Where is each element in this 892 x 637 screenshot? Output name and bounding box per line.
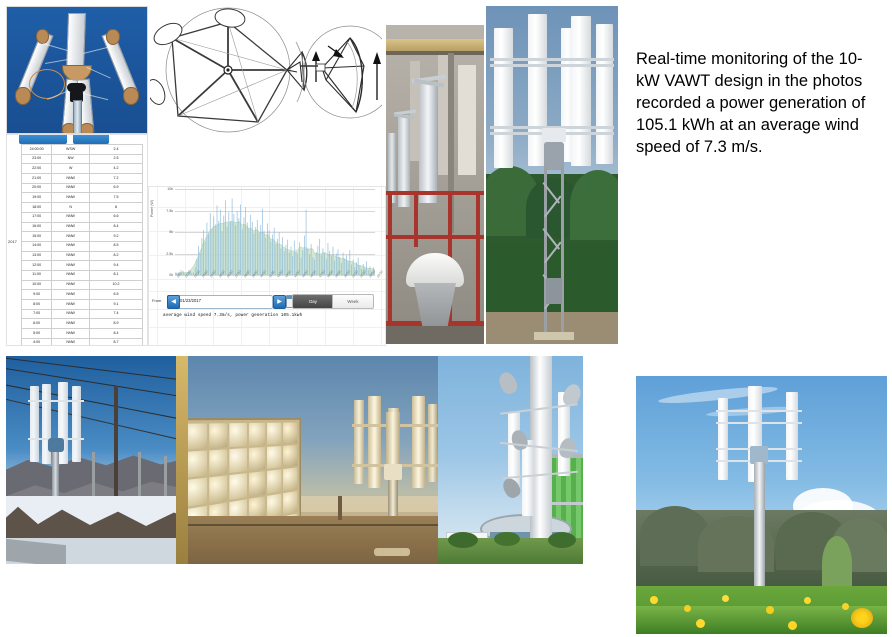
day-button[interactable]: Day: [292, 294, 334, 309]
cell-wind-direction: NNW: [52, 319, 90, 329]
table-row: 19:00NNW7.5: [22, 193, 143, 203]
prototype-tip-cup: [106, 29, 120, 45]
week-button[interactable]: Week: [332, 294, 374, 309]
cell-wind-speed: 4.2: [90, 164, 143, 174]
cell-time: 17:00: [22, 212, 52, 222]
photo-hilltop-vawt-lattice-tower: [486, 6, 618, 344]
turbine-blade: [522, 440, 534, 516]
range-toggle-group[interactable]: Day Week: [292, 294, 372, 308]
cell-time: 6:00: [22, 319, 52, 329]
cell-time: 14:00: [22, 241, 52, 251]
turbine-blade: [368, 396, 381, 488]
header-bar-segment: [73, 135, 109, 144]
cell-time: 15:00: [22, 232, 52, 242]
turbine-arm: [490, 64, 614, 67]
cell-wind-direction: W: [52, 164, 90, 174]
table-row: 18:00N8: [22, 203, 143, 213]
turbine-blade: [786, 392, 798, 480]
table-row: 21:00NNW7.2: [22, 174, 143, 184]
table-row: 15:00NNW9.2: [22, 232, 143, 242]
cell-wind-speed: 8.5: [90, 241, 143, 251]
table-row: 23:00NW2.5: [22, 154, 143, 164]
turbine-arm: [28, 400, 84, 402]
cell-wind-direction: NNW: [52, 241, 90, 251]
cell-time: 23:00: [22, 154, 52, 164]
turbine-blade: [42, 384, 51, 464]
table-row: 9:00NNW6.5: [22, 290, 143, 300]
photo-prototype-blue-background: [6, 6, 148, 134]
cell-wind-direction: NNW: [52, 222, 90, 232]
header-bar-segment: [19, 135, 67, 144]
from-label: From: [152, 298, 161, 303]
turbine-blade: [412, 396, 425, 488]
table-row: 12:00NNW9.4: [22, 261, 143, 271]
cell-wind-speed: 9.4: [90, 261, 143, 271]
chart-x-axis-ticks: 00:0001:0002:0003:0004:0005:0006:0007:00…: [175, 276, 375, 292]
turbine-blade: [596, 24, 613, 164]
cell-wind-speed: 6.5: [90, 290, 143, 300]
cell-wind-direction: NW: [52, 154, 90, 164]
cell-wind-speed: 8.4: [90, 329, 143, 339]
turbine-blade: [571, 16, 591, 166]
prototype-blade: [66, 13, 86, 71]
turbine-nacelle: [542, 128, 566, 142]
cell-wind-direction: NNW: [52, 290, 90, 300]
table-row: 17:00NNW6.6: [22, 212, 143, 222]
table-row: 14:00NNW8.5: [22, 241, 143, 251]
cell-wind-direction: NNW: [52, 232, 90, 242]
table-row: 5:00NNW8.4: [22, 329, 143, 339]
photo-snowy-mountain-vawt: [6, 356, 188, 564]
prototype-mast: [73, 100, 82, 134]
next-day-button[interactable]: ▶: [273, 295, 286, 309]
chart-y-tick-label: 0k: [153, 273, 173, 277]
turbine-blade: [30, 386, 39, 462]
year-label: 2017: [8, 239, 17, 244]
photo-solar-array-and-vawt-sunset: [188, 356, 438, 564]
cell-wind-direction: NNW: [52, 329, 90, 339]
table-row: 10:00NNW10.2: [22, 280, 143, 290]
slide-canvas: 2017 24:00:00WSW2.423:00NW2.522:00W4.221…: [0, 0, 892, 637]
diagram-cad-rotor-geometry: [150, 4, 382, 136]
turbine-blade: [494, 28, 513, 168]
cell-wind-speed: 2.4: [90, 145, 143, 155]
date-control-row: From ◀ 01/23/2017 ▶ Day Week: [149, 294, 385, 310]
chart-vertical-gridline: [381, 187, 382, 345]
chart-y-tick-label: 5k: [153, 230, 173, 234]
cell-wind-speed: 2.5: [90, 154, 143, 164]
cad-svg: [150, 4, 382, 136]
cell-wind-speed: 8.2: [90, 251, 143, 261]
cell-wind-speed: 8.1: [90, 270, 143, 280]
cell-time: 16:00: [22, 222, 52, 232]
cell-wind-speed: 7.2: [90, 174, 143, 184]
table-row: 8:00NNW9.1: [22, 300, 143, 310]
cell-wind-speed: 8.9: [90, 319, 143, 329]
cell-time: 19:00: [22, 193, 52, 203]
chart-horizontal-gridline: [149, 327, 385, 328]
prototype-tip-cup: [36, 29, 49, 44]
chart-plot-area: [175, 189, 375, 275]
prototype-tip-cup: [123, 87, 139, 105]
cell-wind-direction: NNW: [52, 280, 90, 290]
cell-wind-direction: NNW: [52, 251, 90, 261]
turbine-nacelle: [48, 438, 64, 452]
photo-factory-assembly-turbine: [386, 25, 484, 344]
turbine-blade: [72, 386, 81, 462]
table-row: 20:00NNW6.9: [22, 183, 143, 193]
cell-wind-direction: N: [52, 203, 90, 213]
prototype-tip-cup: [15, 87, 31, 105]
photo-rooftop-vawt-green-facade: [438, 356, 583, 564]
turbine-arm: [716, 410, 802, 412]
turbine-mast: [754, 462, 765, 596]
description-text: Real-time monitoring of the 10-kW VAWT d…: [636, 48, 886, 158]
cell-wind-direction: NNW: [52, 338, 90, 346]
cell-wind-direction: NNW: [52, 300, 90, 310]
cell-time: 7:00: [22, 309, 52, 319]
chart-y-tick-label: 7.5k: [153, 209, 173, 213]
wind-data-table: 24:00:00WSW2.423:00NW2.522:00W4.221:00NN…: [21, 144, 143, 346]
cell-wind-speed: 8: [90, 203, 143, 213]
cell-wind-speed: 10.2: [90, 280, 143, 290]
table-row: 24:00:00WSW2.4: [22, 145, 143, 155]
cell-wind-direction: NNW: [52, 193, 90, 203]
chart-y-tick-label: 2.5k: [153, 252, 173, 256]
table-row: 13:00NNW8.2: [22, 251, 143, 261]
cell-time: 12:00: [22, 261, 52, 271]
power-monitoring-chart-panel: Power (W) 0k2.5k5k7.5k10k 00:0001:0002:0…: [148, 186, 386, 346]
turbine-blade: [428, 404, 437, 482]
cell-time: 4:00: [22, 338, 52, 346]
cell-wind-direction: NNW: [52, 309, 90, 319]
cell-wind-speed: 9.2: [90, 232, 143, 242]
turbine-blade: [354, 400, 364, 484]
cell-wind-speed: 6.9: [90, 183, 143, 193]
date-input-value[interactable]: 01/23/2017: [180, 296, 266, 306]
cell-wind-direction: NNW: [52, 174, 90, 184]
cell-time: 13:00: [22, 251, 52, 261]
cell-time: 22:00: [22, 164, 52, 174]
table-row: 6:00NNW8.9: [22, 319, 143, 329]
wind-data-table-panel: 2017 24:00:00WSW2.423:00NW2.522:00W4.221…: [6, 134, 148, 346]
table-row: 4:00NNW8.7: [22, 338, 143, 346]
cell-time: 11:00: [22, 270, 52, 280]
cell-time: 18:00: [22, 203, 52, 213]
cell-wind-speed: 8.7: [90, 338, 143, 346]
cell-time: 9:00: [22, 290, 52, 300]
previous-day-button[interactable]: ◀: [167, 295, 180, 309]
cell-wind-speed: 6.6: [90, 212, 143, 222]
cell-time: 5:00: [22, 329, 52, 339]
chart-y-tick-label: 10k: [153, 187, 173, 191]
cell-wind-speed: 8.4: [90, 222, 143, 232]
cell-wind-speed: 7.5: [90, 193, 143, 203]
turbine-arm: [490, 58, 614, 61]
cell-wind-speed: 9.1: [90, 300, 143, 310]
cell-time: 20:00: [22, 183, 52, 193]
table-row: 11:00NNW8.1: [22, 270, 143, 280]
cell-wind-direction: NNW: [52, 183, 90, 193]
cell-wind-speed: 7.4: [90, 309, 143, 319]
cell-time: 21:00: [22, 174, 52, 184]
prototype-tip-cup: [80, 123, 94, 134]
table-header-bar: [7, 135, 147, 144]
cell-wind-direction: WSW: [52, 145, 90, 155]
cell-wind-direction: NNW: [52, 261, 90, 271]
cell-time: 10:00: [22, 280, 52, 290]
cell-wind-direction: NNW: [52, 270, 90, 280]
table-row: 16:00NNW8.4: [22, 222, 143, 232]
table-row: 7:00NNW7.4: [22, 309, 143, 319]
table-row: 22:00W4.2: [22, 164, 143, 174]
chart-summary-caption: average wind speed 7.3m/s, power generat…: [163, 313, 378, 318]
turbine-arm: [716, 422, 802, 424]
cell-time: 24:00:00: [22, 145, 52, 155]
chart-area-series: [175, 189, 375, 275]
cell-time: 8:00: [22, 300, 52, 310]
turbine-nacelle: [386, 412, 400, 468]
cell-wind-direction: NNW: [52, 212, 90, 222]
photo-meadow-vawt-dandelions: [636, 376, 887, 634]
